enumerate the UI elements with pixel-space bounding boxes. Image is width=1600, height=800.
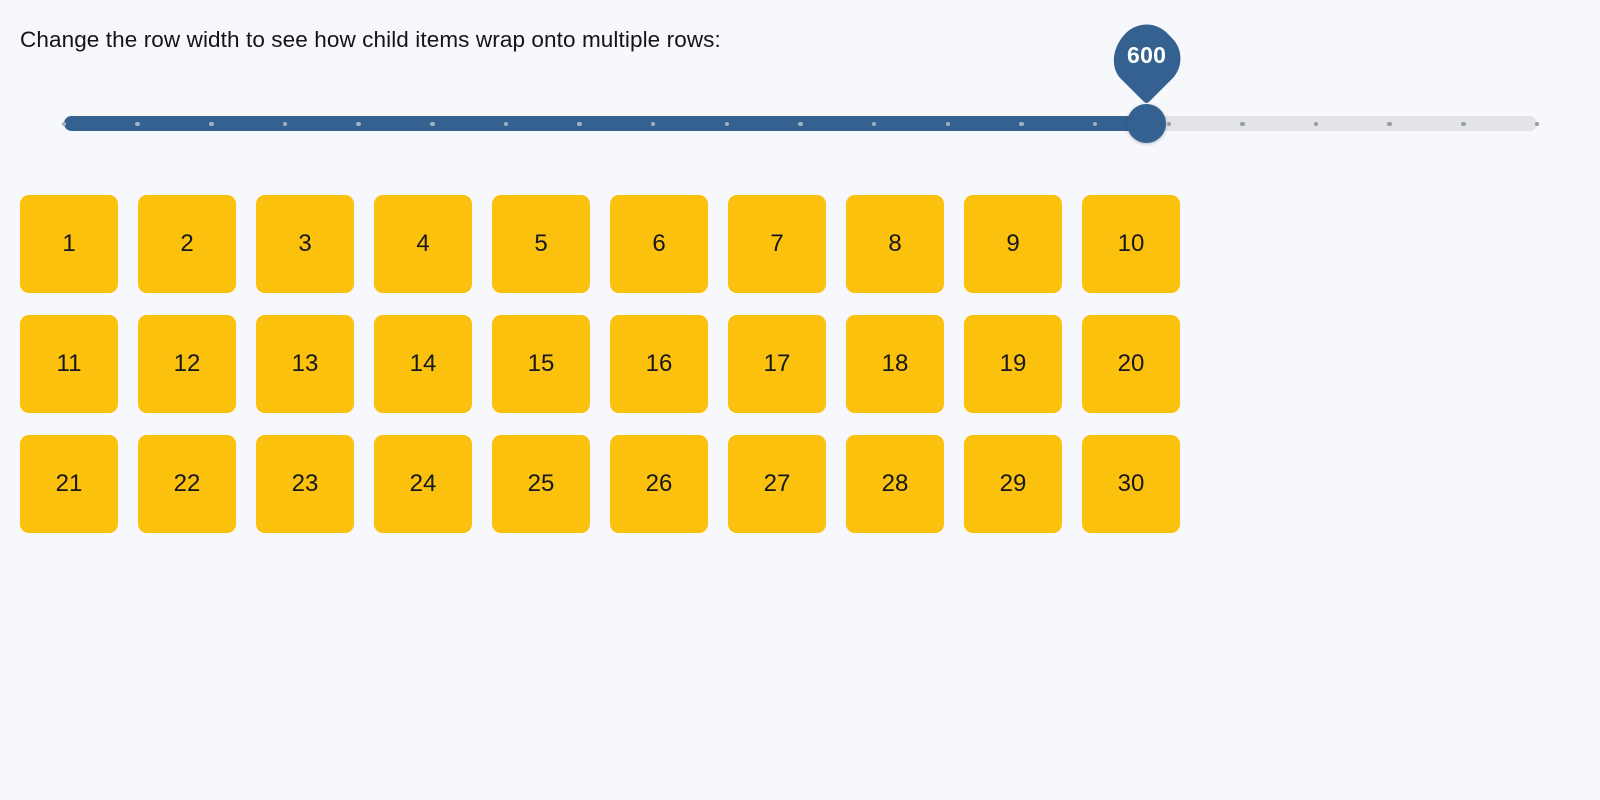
flex-item[interactable]: 30 <box>1082 435 1180 533</box>
flex-item-label: 6 <box>652 230 665 258</box>
slider-value-label: 600 <box>1114 26 1179 84</box>
slider-track[interactable] <box>64 116 1537 131</box>
flex-item[interactable]: 8 <box>846 195 944 293</box>
flex-item[interactable]: 13 <box>256 315 354 413</box>
flex-item[interactable]: 9 <box>964 195 1062 293</box>
flex-row-container: 1234567891011121314151617181920212223242… <box>20 195 1180 533</box>
flex-item-label: 25 <box>528 470 555 498</box>
flex-item[interactable]: 18 <box>846 315 944 413</box>
flex-item-label: 7 <box>770 230 783 258</box>
flex-item[interactable]: 1 <box>20 195 118 293</box>
slider-value-tooltip: 600 <box>1114 26 1179 91</box>
flex-item[interactable]: 5 <box>492 195 590 293</box>
flex-item-label: 2 <box>180 230 193 258</box>
flex-item[interactable]: 10 <box>1082 195 1180 293</box>
flex-item[interactable]: 21 <box>20 435 118 533</box>
flex-item-label: 19 <box>1000 350 1027 378</box>
flex-item-label: 13 <box>292 350 319 378</box>
flex-item-label: 16 <box>646 350 673 378</box>
flex-item[interactable]: 20 <box>1082 315 1180 413</box>
flex-item[interactable]: 22 <box>138 435 236 533</box>
demo-page: Change the row width to see how child it… <box>0 0 1600 800</box>
flex-item[interactable]: 15 <box>492 315 590 413</box>
flex-item-label: 26 <box>646 470 673 498</box>
flex-item-label: 27 <box>764 470 791 498</box>
flex-item-label: 8 <box>888 230 901 258</box>
flex-item[interactable]: 17 <box>728 315 826 413</box>
flex-item-label: 18 <box>882 350 909 378</box>
page-title: Change the row width to see how child it… <box>20 26 721 54</box>
flex-item-label: 17 <box>764 350 791 378</box>
slider-region: 600 <box>0 96 1600 156</box>
flex-item-label: 24 <box>410 470 437 498</box>
flex-item-label: 22 <box>174 470 201 498</box>
flex-item-label: 20 <box>1118 350 1145 378</box>
flex-item-label: 12 <box>174 350 201 378</box>
flex-item-label: 9 <box>1006 230 1019 258</box>
flex-item-label: 15 <box>528 350 555 378</box>
flex-item[interactable]: 12 <box>138 315 236 413</box>
flex-item[interactable]: 6 <box>610 195 708 293</box>
flex-item[interactable]: 28 <box>846 435 944 533</box>
flex-item-label: 28 <box>882 470 909 498</box>
flex-item-label: 14 <box>410 350 437 378</box>
flex-item-label: 1 <box>62 230 75 258</box>
flex-item[interactable]: 26 <box>610 435 708 533</box>
flex-item[interactable]: 7 <box>728 195 826 293</box>
flex-item-label: 4 <box>416 230 429 258</box>
flex-item-label: 3 <box>298 230 311 258</box>
flex-item-label: 30 <box>1118 470 1145 498</box>
flex-item[interactable]: 16 <box>610 315 708 413</box>
flex-item[interactable]: 14 <box>374 315 472 413</box>
slider-thumb[interactable] <box>1127 104 1166 143</box>
flex-item-label: 5 <box>534 230 547 258</box>
flex-item-label: 29 <box>1000 470 1027 498</box>
flex-item[interactable]: 24 <box>374 435 472 533</box>
flex-item-label: 10 <box>1118 230 1145 258</box>
flex-item[interactable]: 19 <box>964 315 1062 413</box>
flex-item-label: 21 <box>56 470 83 498</box>
flex-item[interactable]: 27 <box>728 435 826 533</box>
flex-item[interactable]: 23 <box>256 435 354 533</box>
flex-item[interactable]: 11 <box>20 315 118 413</box>
flex-item-label: 23 <box>292 470 319 498</box>
flex-item[interactable]: 2 <box>138 195 236 293</box>
tooltip-bubble-shape <box>1101 13 1193 105</box>
flex-item[interactable]: 3 <box>256 195 354 293</box>
slider-fill <box>64 116 1147 131</box>
flex-item[interactable]: 25 <box>492 435 590 533</box>
flex-item-label: 11 <box>57 350 82 378</box>
flex-item[interactable]: 29 <box>964 435 1062 533</box>
flex-item[interactable]: 4 <box>374 195 472 293</box>
